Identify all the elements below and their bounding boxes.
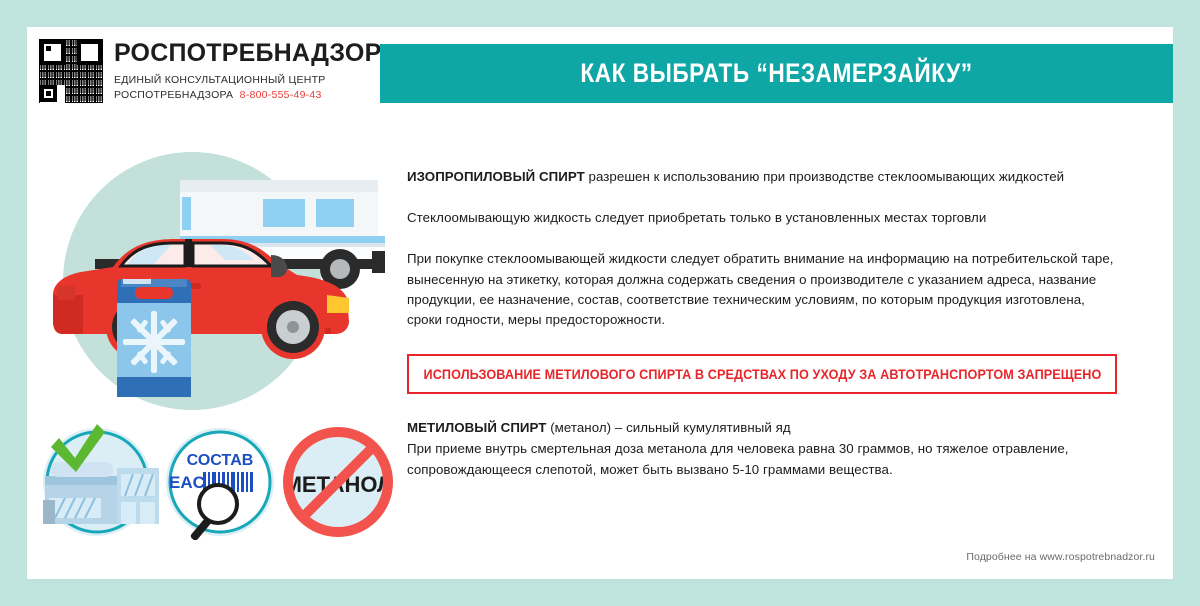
warning-box: ИСПОЛЬЗОВАНИЕ МЕТИЛОВОГО СПИРТА В СРЕДСТ… (407, 354, 1117, 394)
methanol-prohibited-icon[interactable]: МЕТАНОЛ (284, 428, 393, 536)
methanol-lead-rest: (метанол) – сильный кумулятивный яд (546, 420, 790, 435)
poster-root: РОСПОТРЕБНАДЗОР ЕДИНЫЙ КОНСУЛЬТАЦИОННЫЙ … (0, 0, 1200, 606)
illustration-svg (35, 135, 395, 425)
page-title: КАК ВЫБРАТЬ “НЕЗАМЕРЗАЙКУ” (580, 58, 972, 89)
isopropyl-lead: ИЗОПРОПИЛОВЫЙ СПИРТ (407, 169, 585, 184)
vehicle-illustration (35, 135, 395, 425)
qr-code-icon[interactable] (39, 39, 103, 103)
main-content: ИЗОПРОПИЛОВЫЙ СПИРТ разрешен к использов… (407, 167, 1117, 480)
logo-text-block: РОСПОТРЕБНАДЗОР ЕДИНЫЙ КОНСУЛЬТАЦИОННЫЙ … (114, 39, 381, 104)
logo-subtitle-line1: ЕДИНЫЙ КОНСУЛЬТАЦИОННЫЙ ЦЕНТР (114, 73, 381, 88)
warning-text: ИСПОЛЬЗОВАНИЕ МЕТИЛОВОГО СПИРТА В СРЕДСТ… (423, 367, 1101, 382)
paragraph-isopropyl: ИЗОПРОПИЛОВЫЙ СПИРТ разрешен к использов… (407, 167, 1117, 187)
paragraph-label-info: При покупке стеклоомывающей жидкости сле… (407, 249, 1117, 330)
paragraph-methanol-dose: При приеме внутрь смертельная доза метан… (407, 439, 1117, 479)
eac-mark: EAC (169, 473, 205, 492)
sostav-label: СОСТАВ (187, 452, 254, 469)
footer-note[interactable]: Подробнее на www.rospotrebnadzor.ru (966, 551, 1155, 563)
bottom-icon-row: СОСТАВ EAC (35, 420, 405, 540)
header-banner: КАК ВЫБРАТЬ “НЕЗАМЕРЗАЙКУ” (380, 44, 1173, 103)
white-panel: РОСПОТРЕБНАДЗОР ЕДИНЫЙ КОНСУЛЬТАЦИОННЫЙ … (27, 27, 1173, 579)
methanol-lead: МЕТИЛОВЫЙ СПИРТ (407, 420, 546, 435)
licensed-retail-store-icon[interactable] (43, 424, 159, 536)
bottom-icons-svg: СОСТАВ EAC (35, 420, 405, 540)
snowflake-icon (123, 311, 185, 373)
rospotrebnadzor-logo: РОСПОТРЕБНАДЗОР ЕДИНЫЙ КОНСУЛЬТАЦИОННЫЙ … (39, 39, 381, 104)
logo-subtitle-line2-text: РОСПОТРЕБНАДЗОРА (114, 89, 233, 101)
paragraph-methanol-lead: МЕТИЛОВЫЙ СПИРТ (метанол) – сильный куму… (407, 418, 1117, 438)
hotline-phone-number[interactable]: 8-800-555-49-43 (240, 89, 322, 101)
brand-name: РОСПОТРЕБНАДЗОР (114, 40, 381, 66)
product-label-icon[interactable]: СОСТАВ EAC (166, 428, 274, 540)
logo-subtitle-line2: РОСПОТРЕБНАДЗОРА 8-800-555-49-43 (114, 88, 381, 103)
antifreeze-bottle-illustration (117, 275, 191, 397)
paragraph-purchase-location: Стеклоомывающую жидкость следует приобре… (407, 208, 1117, 228)
isopropyl-rest: разрешен к использованию при производств… (585, 169, 1064, 184)
